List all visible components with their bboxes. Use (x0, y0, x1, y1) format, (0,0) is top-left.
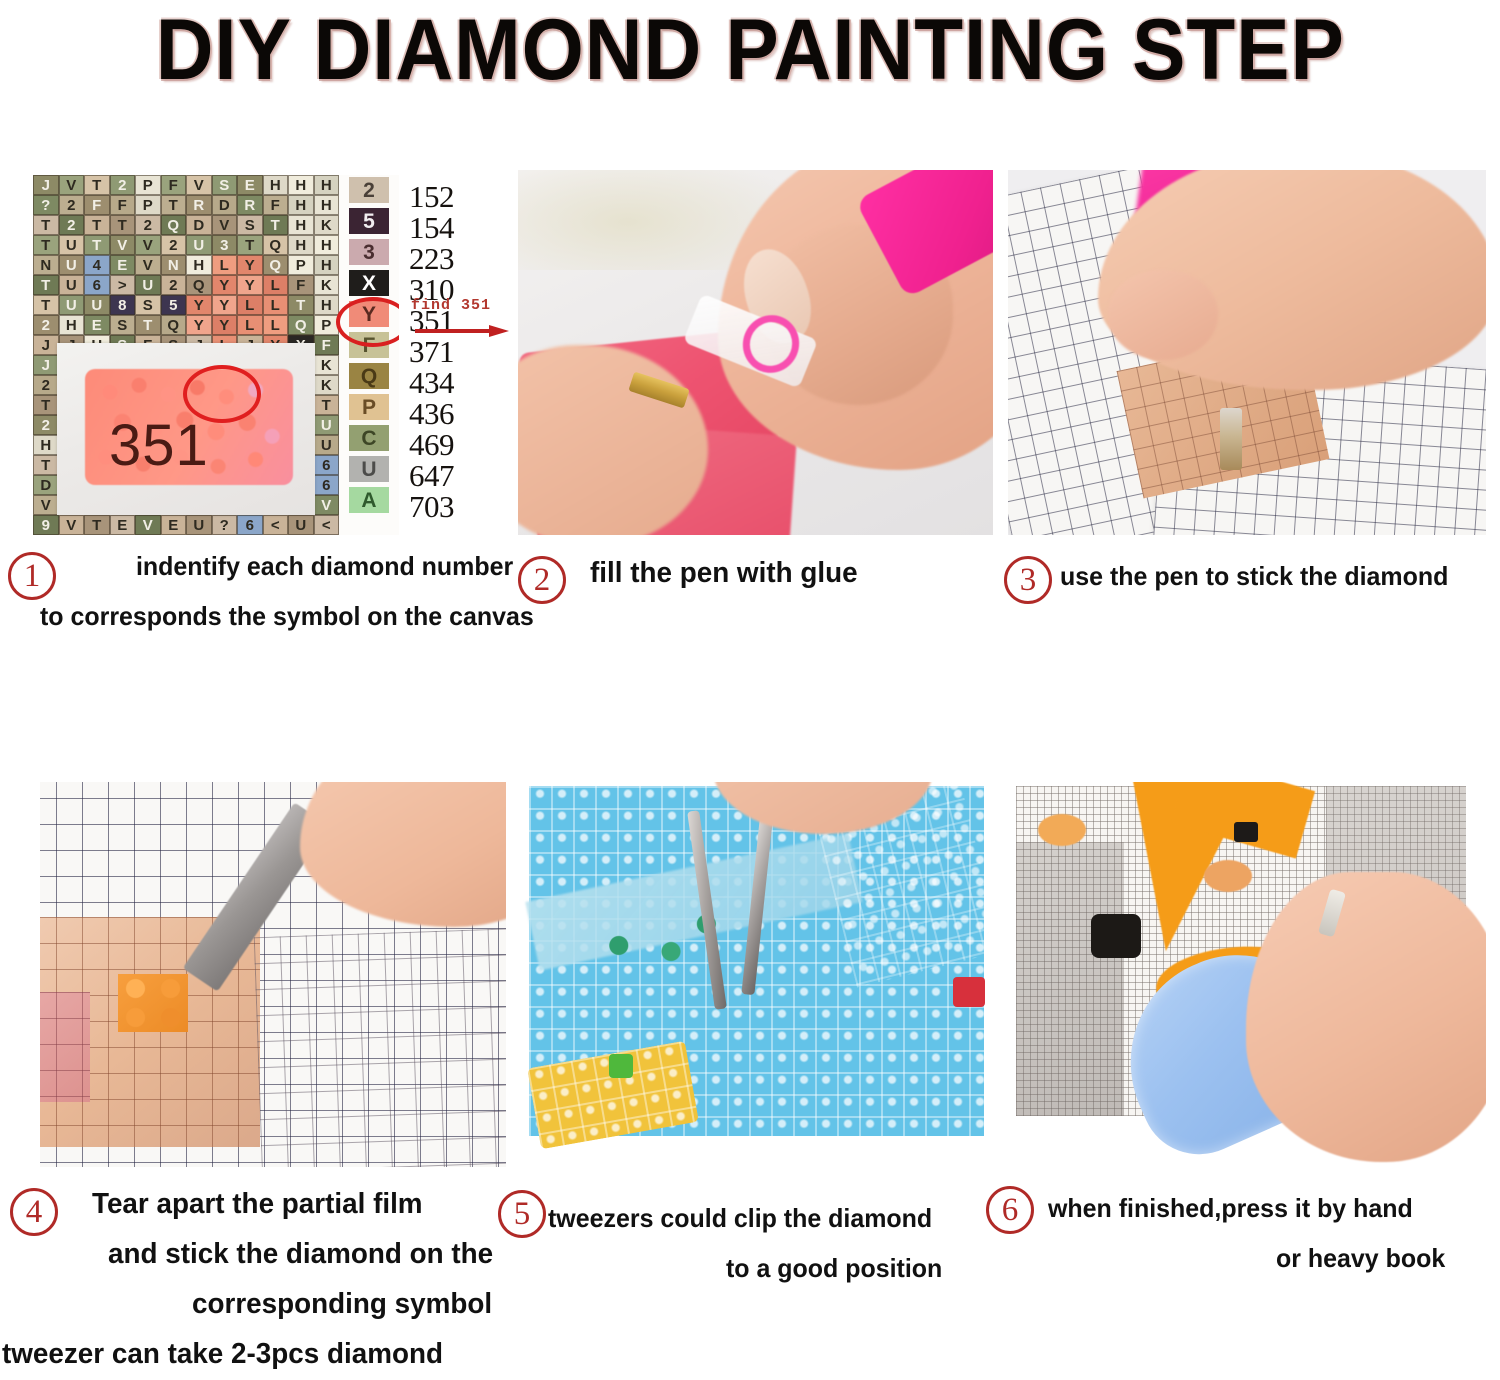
symbol-cell: Q (161, 215, 187, 235)
symbol-cell: V (33, 495, 59, 515)
symbol-cell: H (288, 195, 314, 215)
legend-number-647: 647 (399, 460, 513, 491)
legend-swatch-Q: Q (349, 363, 389, 389)
legend-swatch-U: U (349, 456, 389, 482)
legend-number-154: 154 (399, 212, 513, 243)
symbol-cell: Y (212, 275, 238, 295)
legend-number-223: 223 (399, 243, 513, 274)
symbol-cell: Y (186, 315, 212, 335)
symbol-cell: R (237, 195, 263, 215)
symbol-cell: T (161, 195, 187, 215)
symbol-cell: H (314, 235, 340, 255)
step-6-caption-line-2: or heavy book (1276, 1238, 1445, 1278)
symbol-cell: 6 (314, 455, 340, 475)
step-4-image (40, 782, 506, 1167)
step-4-caption-line-3: corresponding symbol (192, 1284, 492, 1324)
symbol-cell: P (135, 175, 161, 195)
symbol-cell: 2 (161, 275, 187, 295)
symbol-cell: V (59, 515, 85, 535)
legend-swatch-5: 5 (349, 208, 389, 234)
legend-swatch-F: F (349, 332, 389, 358)
symbol-cell: Q (263, 235, 289, 255)
symbol-cell: T (314, 395, 340, 415)
step-4-caption-line-2: and stick the diamond on the (108, 1234, 493, 1274)
symbol-cell: H (263, 175, 289, 195)
step-number-6: 6 (986, 1186, 1034, 1234)
symbol-cell: S (237, 215, 263, 235)
symbol-cell: F (263, 195, 289, 215)
symbol-cell: 5 (161, 295, 187, 315)
legend-swatch-2: 2 (349, 177, 389, 203)
symbol-cell: U (186, 235, 212, 255)
symbol-cell: H (314, 295, 340, 315)
photo-tweezers-clip-diamond (523, 782, 989, 1167)
symbol-cell: H (314, 195, 340, 215)
symbol-cell: U (288, 515, 314, 535)
symbol-cell: P (288, 255, 314, 275)
symbol-cell: V (135, 235, 161, 255)
step-number-5: 5 (498, 1190, 546, 1238)
legend-swatch-A: A (349, 487, 389, 513)
diamond-on-pen-tip (1220, 408, 1242, 470)
symbol-cell: K (314, 215, 340, 235)
symbol-cell: V (135, 255, 161, 275)
step-2-image (518, 170, 993, 535)
symbol-cell: D (212, 195, 238, 215)
legend-number-469: 469 (399, 429, 513, 460)
symbol-cell: T (288, 295, 314, 315)
step-5-image (523, 782, 989, 1167)
symbol-cell: K (314, 355, 340, 375)
step-4-caption-line-1: Tear apart the partial film (92, 1184, 423, 1224)
step-3-caption-line-1: use the pen to stick the diamond (1060, 556, 1448, 596)
symbol-cell: Q (263, 255, 289, 275)
symbol-cell: V (59, 175, 85, 195)
legend-swatch-Y: Y (349, 301, 389, 327)
symbol-cell: 2 (33, 375, 59, 395)
photo-press-finished-painting (1006, 782, 1486, 1167)
symbol-cell: L (212, 255, 238, 275)
symbol-cell: E (237, 175, 263, 195)
symbol-cell: N (161, 255, 187, 275)
placed-orange-diamonds (118, 974, 188, 1032)
fox-cheek-left (1038, 814, 1086, 846)
step-3-image (1008, 170, 1486, 535)
symbol-cell: H (186, 255, 212, 275)
legend-number-371: 371 (399, 336, 513, 367)
legend-number-703: 703 (399, 491, 513, 522)
symbol-cell: Q (186, 275, 212, 295)
symbol-cell: L (263, 295, 289, 315)
symbol-cell: U (314, 435, 340, 455)
symbol-cell: U (186, 515, 212, 535)
symbol-cell: U (135, 275, 161, 295)
symbol-cell: T (33, 215, 59, 235)
step-1-image: JVT2PFVSEHHH?2FFPTRDRFHHT2TT2QDVSTHKTUTV… (33, 175, 513, 535)
symbol-cell: H (59, 315, 85, 335)
symbol-cell: J (33, 335, 59, 355)
symbol-cell: E (161, 515, 187, 535)
symbol-cell: 2 (135, 215, 161, 235)
canvas-pink-region (40, 992, 90, 1102)
symbol-cell: L (237, 315, 263, 335)
fox-eye (1234, 822, 1258, 842)
canvas-symbol-grid: JVT2PFVSEHHH?2FFPTRDRFHHT2TT2QDVSTHKTUTV… (33, 175, 339, 535)
symbol-cell: Y (212, 295, 238, 315)
symbol-cell: V (135, 515, 161, 535)
step-6-caption-line-1: when finished,press it by hand (1048, 1188, 1413, 1228)
photo-tear-partial-film (40, 782, 506, 1167)
red-diamond-single (953, 977, 985, 1007)
symbol-cell: U (59, 295, 85, 315)
fingernail (1108, 270, 1218, 360)
symbol-cell: 4 (84, 255, 110, 275)
step-6-image (1006, 782, 1486, 1167)
symbol-cell: T (33, 455, 59, 475)
symbol-cell: V (186, 175, 212, 195)
symbol-cell: H (288, 235, 314, 255)
symbol-cell: 6 (237, 515, 263, 535)
symbol-cell: 9 (33, 515, 59, 535)
legend-swatch-X: X (349, 270, 389, 296)
symbol-cell: < (263, 515, 289, 535)
step-number-2: 2 (518, 556, 566, 604)
symbol-cell: Y (212, 315, 238, 335)
find-annotation-label: find 351 (411, 297, 491, 314)
symbol-cell: T (33, 275, 59, 295)
symbol-cell: < (314, 515, 340, 535)
legend-number-152: 152 (399, 181, 513, 212)
symbol-cell: U (84, 295, 110, 315)
symbol-cell: L (263, 315, 289, 335)
symbol-cell: ? (212, 515, 238, 535)
symbol-cell: S (135, 295, 161, 315)
symbol-cell: 2 (59, 195, 85, 215)
symbol-cell: Q (161, 315, 187, 335)
symbol-cell: V (212, 215, 238, 235)
photo-pen-sticks-diamond (1008, 170, 1486, 535)
symbol-cell: S (212, 175, 238, 195)
protective-film (254, 927, 506, 1167)
symbol-cell: T (84, 175, 110, 195)
symbol-cell: E (110, 515, 136, 535)
symbol-cell: U (59, 235, 85, 255)
green-diamond-single (609, 1054, 633, 1078)
photo-fill-pen-with-glue (518, 170, 993, 535)
symbol-cell: T (84, 215, 110, 235)
symbol-cell: 2 (33, 315, 59, 335)
symbol-cell: T (33, 295, 59, 315)
symbol-cell: 2 (110, 175, 136, 195)
symbol-cell: Y (237, 275, 263, 295)
step-5-caption-line-1: tweezers could clip the diamond (548, 1198, 932, 1238)
legend-swatch-P: P (349, 394, 389, 420)
symbol-cell: F (161, 175, 187, 195)
symbol-cell: T (110, 215, 136, 235)
symbol-cell: T (33, 235, 59, 255)
symbol-cell: K (314, 275, 340, 295)
symbol-cell: F (314, 335, 340, 355)
step-1-caption-line-2: to corresponds the symbol on the canvas (40, 596, 534, 636)
step-number-1: 1 (8, 552, 56, 600)
symbol-cell: Y (237, 255, 263, 275)
symbol-cell: T (263, 215, 289, 235)
symbol-cell: J (33, 175, 59, 195)
symbol-cell: H (314, 255, 340, 275)
symbol-cell: F (84, 195, 110, 215)
legend-number-column: find 351 1521542233103513714344364696477… (399, 175, 513, 535)
title-bar: DIY DIAMOND PAINTING STEP (0, 0, 1500, 100)
symbol-cell: D (33, 475, 59, 495)
symbol-cell: 8 (110, 295, 136, 315)
symbol-cell: 6 (314, 475, 340, 495)
gray-region-left (1016, 842, 1124, 1116)
symbol-cell: H (314, 175, 340, 195)
symbol-cell: T (237, 235, 263, 255)
symbol-cell: J (33, 355, 59, 375)
symbol-cell: 2 (59, 215, 85, 235)
symbol-chart: JVT2PFVSEHHH?2FFPTRDRFHHT2TT2QDVSTHKTUTV… (33, 175, 513, 535)
page-title: DIY DIAMOND PAINTING STEP (156, 7, 1345, 93)
symbol-cell: 6 (84, 275, 110, 295)
fox-nose (1091, 914, 1141, 958)
symbol-cell: H (288, 175, 314, 195)
symbol-cell: T (33, 395, 59, 415)
symbol-cell: K (314, 375, 340, 395)
symbol-cell: F (288, 275, 314, 295)
symbol-cell: F (110, 195, 136, 215)
step-4-caption-line-4: tweezer can take 2-3pcs diamond (2, 1334, 443, 1374)
symbol-cell: T (135, 315, 161, 335)
symbol-cell: Q (288, 315, 314, 335)
symbol-cell: V (110, 235, 136, 255)
symbol-cell: U (59, 275, 85, 295)
hand (1246, 872, 1486, 1162)
symbol-cell: H (288, 215, 314, 235)
step-number-3: 3 (1004, 556, 1052, 604)
diamond-bag: 351 (57, 343, 315, 515)
symbol-cell: L (263, 275, 289, 295)
symbol-cell: Y (186, 295, 212, 315)
symbol-cell: 2 (33, 415, 59, 435)
symbol-cell: L (237, 295, 263, 315)
step-1-caption-line-1: indentify each diamond number (136, 546, 513, 586)
symbol-cell: S (110, 315, 136, 335)
symbol-cell: > (110, 275, 136, 295)
symbol-cell: N (33, 255, 59, 275)
symbol-cell: 2 (161, 235, 187, 255)
legend-swatch-C: C (349, 425, 389, 451)
legend-number-436: 436 (399, 398, 513, 429)
symbol-cell: P (135, 195, 161, 215)
symbol-cell: U (59, 255, 85, 275)
legend-symbol-column: 253XYFQPCUA (339, 175, 399, 535)
symbol-cell: T (84, 235, 110, 255)
symbol-cell: 3 (212, 235, 238, 255)
step-number-4: 4 (10, 1188, 58, 1236)
legend-number-434: 434 (399, 367, 513, 398)
fox-cheek-right (1204, 860, 1252, 892)
symbol-cell: D (186, 215, 212, 235)
symbol-cell: U (314, 415, 340, 435)
symbol-cell: V (314, 495, 340, 515)
symbol-cell: E (110, 255, 136, 275)
step-5-caption-line-2: to a good position (726, 1248, 942, 1288)
legend-swatch-3: 3 (349, 239, 389, 265)
diamond-bag-label: 351 (109, 417, 209, 475)
symbol-cell: P (314, 315, 340, 335)
step-2-caption-line-1: fill the pen with glue (590, 553, 858, 593)
symbol-cell: H (33, 435, 59, 455)
symbol-cell: T (84, 515, 110, 535)
symbol-cell: ? (33, 195, 59, 215)
symbol-cell: E (84, 315, 110, 335)
symbol-cell: R (186, 195, 212, 215)
find-arrow-icon (415, 325, 509, 337)
